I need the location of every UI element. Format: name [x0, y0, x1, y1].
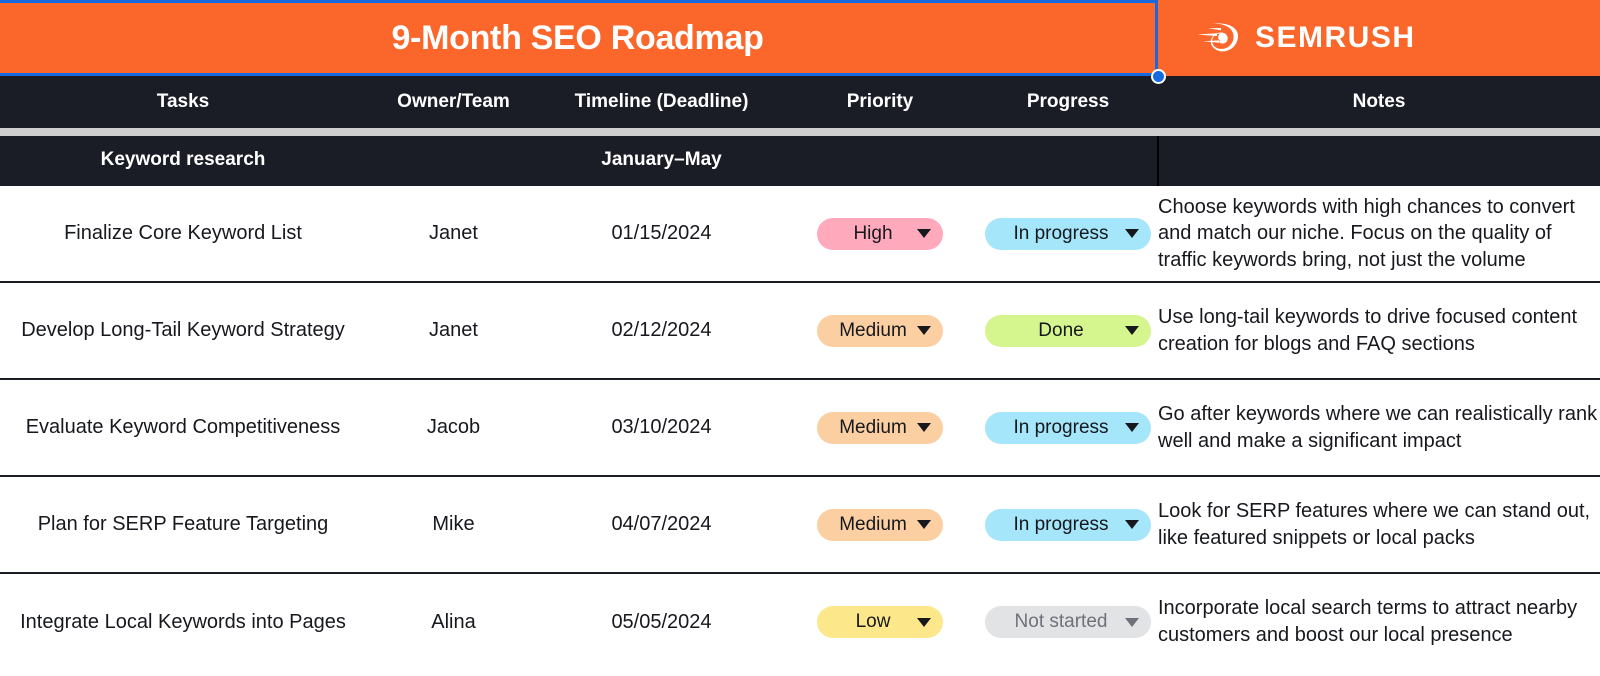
column-header-timeline[interactable]: Timeline (Deadline): [541, 76, 782, 128]
cell-timeline[interactable]: 03/10/2024: [541, 379, 782, 476]
priority-label: Medium: [833, 514, 917, 536]
table-body: Finalize Core Keyword List Janet 01/15/2…: [0, 185, 1600, 670]
cell-owner[interactable]: Janet: [366, 185, 541, 282]
cell-task[interactable]: Evaluate Keyword Competitiveness: [0, 379, 366, 476]
table-row[interactable]: Integrate Local Keywords into Pages Alin…: [0, 573, 1600, 670]
roadmap-table: Tasks Owner/Team Timeline (Deadline) Pri…: [0, 76, 1600, 670]
cell-progress[interactable]: Not started: [978, 573, 1158, 670]
cell-owner[interactable]: Alina: [366, 573, 541, 670]
cell-progress[interactable]: In progress: [978, 185, 1158, 282]
column-header-priority[interactable]: Priority: [782, 76, 978, 128]
cell-task[interactable]: Plan for SERP Feature Targeting: [0, 476, 366, 573]
title-cell-selected[interactable]: 9-Month SEO Roadmap: [0, 0, 1158, 76]
group-name[interactable]: Keyword research: [0, 136, 366, 185]
cell-notes[interactable]: Choose keywords with high chances to con…: [1158, 185, 1600, 282]
table-group-section: Keyword research January–May: [0, 128, 1600, 185]
priority-label: Low: [833, 611, 917, 633]
cell-notes[interactable]: Look for SERP features where we can stan…: [1158, 476, 1600, 573]
table-row[interactable]: Plan for SERP Feature Targeting Mike 04/…: [0, 476, 1600, 573]
cell-notes[interactable]: Use long-tail keywords to drive focused …: [1158, 282, 1600, 379]
cell-notes[interactable]: Incorporate local search terms to attrac…: [1158, 573, 1600, 670]
table-row[interactable]: Evaluate Keyword Competitiveness Jacob 0…: [0, 379, 1600, 476]
cell-priority[interactable]: High: [782, 185, 978, 282]
chevron-down-icon[interactable]: [917, 229, 931, 238]
header-separator-bar: [0, 128, 1600, 136]
progress-label: In progress: [1001, 417, 1125, 439]
cell-priority[interactable]: Low: [782, 573, 978, 670]
priority-label: Medium: [833, 320, 917, 342]
cell-progress[interactable]: In progress: [978, 476, 1158, 573]
group-priority[interactable]: [782, 136, 978, 185]
chevron-down-icon[interactable]: [917, 326, 931, 335]
chevron-down-icon[interactable]: [917, 520, 931, 529]
brand-name: SEMRUSH: [1255, 21, 1416, 55]
progress-label: In progress: [1001, 514, 1125, 536]
cell-progress[interactable]: Done: [978, 282, 1158, 379]
priority-chip[interactable]: Medium: [817, 315, 943, 347]
cell-priority[interactable]: Medium: [782, 282, 978, 379]
column-header-owner[interactable]: Owner/Team: [366, 76, 541, 128]
cell-timeline[interactable]: 02/12/2024: [541, 282, 782, 379]
chevron-down-icon[interactable]: [1125, 520, 1139, 529]
chevron-down-icon[interactable]: [917, 423, 931, 432]
group-row-keyword-research[interactable]: Keyword research January–May: [0, 136, 1600, 185]
progress-label: Not started: [1001, 611, 1125, 633]
cell-owner[interactable]: Jacob: [366, 379, 541, 476]
priority-chip[interactable]: Low: [817, 606, 943, 638]
column-header-progress[interactable]: Progress: [978, 76, 1158, 128]
progress-chip[interactable]: Not started: [985, 606, 1151, 638]
cell-progress[interactable]: In progress: [978, 379, 1158, 476]
brand-logo: SEMRUSH: [1195, 0, 1416, 76]
progress-label: Done: [1001, 320, 1125, 342]
chevron-down-icon[interactable]: [1125, 423, 1139, 432]
chevron-down-icon[interactable]: [1125, 326, 1139, 335]
priority-chip[interactable]: Medium: [817, 412, 943, 444]
column-header-notes[interactable]: Notes: [1158, 76, 1600, 128]
cell-owner[interactable]: Mike: [366, 476, 541, 573]
chevron-down-icon[interactable]: [917, 618, 931, 627]
spreadsheet-canvas: 9-Month SEO Roadmap SEMRUSH Tasks Owner/…: [0, 0, 1600, 676]
cell-timeline[interactable]: 01/15/2024: [541, 185, 782, 282]
priority-label: High: [833, 223, 917, 245]
group-progress[interactable]: [978, 136, 1158, 185]
cell-owner[interactable]: Janet: [366, 282, 541, 379]
table-header: Tasks Owner/Team Timeline (Deadline) Pri…: [0, 76, 1600, 128]
table-row[interactable]: Finalize Core Keyword List Janet 01/15/2…: [0, 185, 1600, 282]
progress-label: In progress: [1001, 223, 1125, 245]
header-separator: [0, 128, 1600, 136]
title-band: 9-Month SEO Roadmap SEMRUSH: [0, 0, 1600, 76]
group-notes[interactable]: [1158, 136, 1600, 185]
semrush-comet-icon: [1195, 21, 1241, 55]
chevron-down-icon[interactable]: [1125, 229, 1139, 238]
column-header-tasks[interactable]: Tasks: [0, 76, 366, 128]
cell-priority[interactable]: Medium: [782, 476, 978, 573]
cell-priority[interactable]: Medium: [782, 379, 978, 476]
group-timeline[interactable]: January–May: [541, 136, 782, 185]
header-row: Tasks Owner/Team Timeline (Deadline) Pri…: [0, 76, 1600, 128]
cell-notes[interactable]: Go after keywords where we can realistic…: [1158, 379, 1600, 476]
cell-task[interactable]: Finalize Core Keyword List: [0, 185, 366, 282]
cell-timeline[interactable]: 05/05/2024: [541, 573, 782, 670]
selection-handle[interactable]: [1151, 69, 1166, 84]
progress-chip[interactable]: In progress: [985, 509, 1151, 541]
priority-chip[interactable]: Medium: [817, 509, 943, 541]
page-title: 9-Month SEO Roadmap: [391, 19, 763, 58]
cell-timeline[interactable]: 04/07/2024: [541, 476, 782, 573]
group-owner[interactable]: [366, 136, 541, 185]
cell-task[interactable]: Develop Long-Tail Keyword Strategy: [0, 282, 366, 379]
progress-chip[interactable]: In progress: [985, 412, 1151, 444]
progress-chip[interactable]: In progress: [985, 218, 1151, 250]
chevron-down-icon[interactable]: [1125, 618, 1139, 627]
table-row[interactable]: Develop Long-Tail Keyword Strategy Janet…: [0, 282, 1600, 379]
cell-task[interactable]: Integrate Local Keywords into Pages: [0, 573, 366, 670]
progress-chip[interactable]: Done: [985, 315, 1151, 347]
priority-chip[interactable]: High: [817, 218, 943, 250]
priority-label: Medium: [833, 417, 917, 439]
